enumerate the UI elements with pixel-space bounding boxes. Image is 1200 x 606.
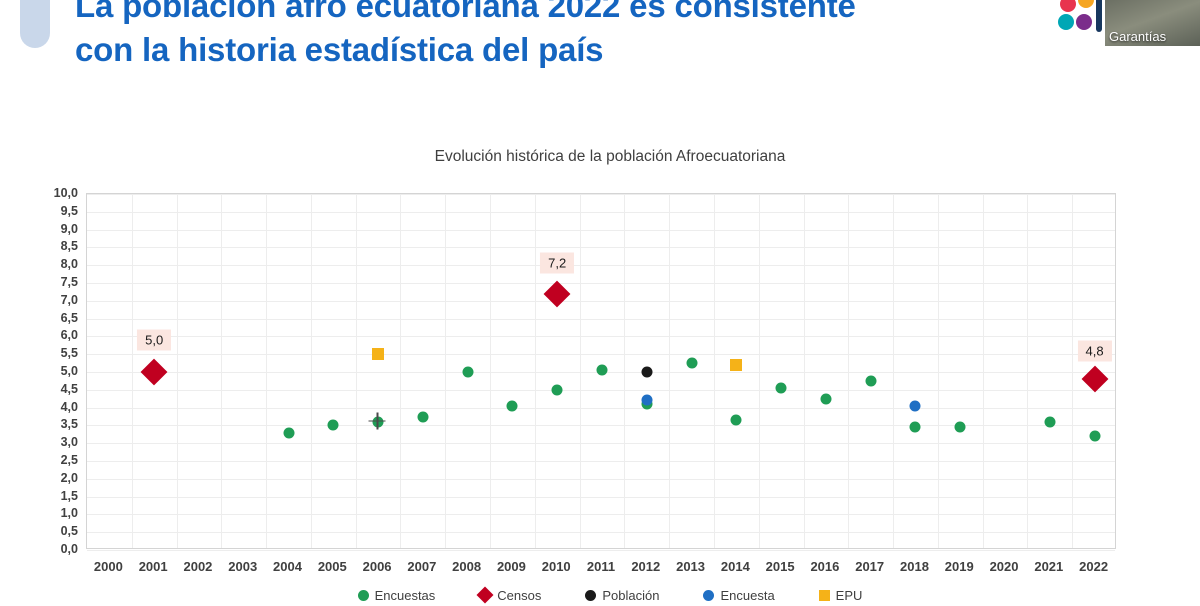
y-axis-tick-label: 3,5 — [18, 417, 78, 431]
gridline-vertical — [356, 194, 357, 548]
y-axis-tick-label: 0,0 — [18, 542, 78, 556]
gridline-vertical — [983, 194, 984, 548]
video-participant-name: Garantías — [1109, 29, 1166, 44]
data-point-encuestas — [955, 422, 966, 433]
data-point-encuestas — [731, 415, 742, 426]
legend-item[interactable]: Encuestas — [358, 588, 436, 603]
gridline-vertical — [266, 194, 267, 548]
data-point-encuestas — [865, 375, 876, 386]
y-axis-tick-label: 9,0 — [18, 222, 78, 236]
gridline-vertical — [400, 194, 401, 548]
y-axis-tick-label: 1,5 — [18, 489, 78, 503]
data-point-encuestas — [283, 427, 294, 438]
organization-logo — [1058, 0, 1110, 40]
x-axis-tick-label: 2022 — [1064, 559, 1124, 574]
gridline-vertical — [490, 194, 491, 548]
gridline-horizontal — [87, 230, 1115, 231]
y-axis-tick-label: 7,0 — [18, 293, 78, 307]
legend-item-label: Encuestas — [375, 588, 436, 603]
legend-marker-icon — [585, 590, 596, 601]
gridline-horizontal — [87, 336, 1115, 337]
gridline-horizontal — [87, 265, 1115, 266]
gridline-vertical — [759, 194, 760, 548]
gridline-vertical — [177, 194, 178, 548]
chart-title: Evolución histórica de la población Afro… — [0, 148, 1200, 166]
data-point-encuestas — [507, 400, 518, 411]
data-point-encuestas — [417, 411, 428, 422]
data-label: 4,8 — [1078, 340, 1112, 361]
legend-item[interactable]: Censos — [479, 588, 541, 603]
y-axis-tick-label: 5,5 — [18, 346, 78, 360]
gridline-vertical — [624, 194, 625, 548]
plot-area: 5,07,24,8 — [86, 193, 1116, 549]
gridline-horizontal — [87, 319, 1115, 320]
gridline-horizontal — [87, 479, 1115, 480]
logo-bar — [1096, 0, 1102, 32]
logo-dot-orange — [1078, 0, 1094, 8]
legend-marker-icon — [819, 590, 830, 601]
legend-item-label: Censos — [497, 588, 541, 603]
data-point-epu — [372, 348, 384, 360]
gridline-vertical — [1027, 194, 1028, 548]
data-point-censos — [1081, 366, 1108, 393]
data-point-población — [641, 367, 652, 378]
gridline-vertical — [804, 194, 805, 548]
gridline-horizontal — [87, 408, 1115, 409]
data-point-encuestas — [820, 393, 831, 404]
legend-item-label: Población — [602, 588, 659, 603]
gridline-horizontal — [87, 390, 1115, 391]
gridline-horizontal — [87, 283, 1115, 284]
gridline-horizontal — [87, 194, 1115, 195]
gridline-vertical — [580, 194, 581, 548]
legend-marker-icon — [477, 587, 494, 604]
logo-dot-teal — [1058, 14, 1074, 30]
data-point-encuestas — [686, 358, 697, 369]
mouse-cursor — [369, 412, 386, 429]
title-accent-bar — [20, 0, 50, 48]
data-point-censos — [141, 359, 168, 386]
gridline-vertical — [445, 194, 446, 548]
y-axis-tick-label: 8,5 — [18, 239, 78, 253]
y-axis-tick-label: 6,0 — [18, 328, 78, 342]
gridline-vertical — [535, 194, 536, 548]
gridline-vertical — [1072, 194, 1073, 548]
data-label: 7,2 — [540, 253, 574, 274]
gridline-horizontal — [87, 497, 1115, 498]
y-axis-tick-label: 4,5 — [18, 382, 78, 396]
gridline-horizontal — [87, 247, 1115, 248]
gridline-horizontal — [87, 212, 1115, 213]
gridline-vertical — [221, 194, 222, 548]
gridline-vertical — [893, 194, 894, 548]
chart-legend: EncuestasCensosPoblaciónEncuestaEPU — [0, 584, 1200, 606]
gridline-horizontal — [87, 443, 1115, 444]
data-point-encuestas — [552, 384, 563, 395]
legend-item-label: Encuesta — [720, 588, 774, 603]
data-point-encuestas — [1044, 416, 1055, 427]
video-participant-tile[interactable]: Garantías — [1105, 0, 1200, 46]
legend-marker-icon — [358, 590, 369, 601]
gridline-horizontal — [87, 301, 1115, 302]
data-point-epu — [730, 359, 742, 371]
gridline-horizontal — [87, 514, 1115, 515]
data-point-encuesta — [641, 395, 652, 406]
y-axis-tick-label: 0,5 — [18, 524, 78, 538]
data-point-encuestas — [910, 422, 921, 433]
y-axis-tick-label: 3,0 — [18, 435, 78, 449]
data-point-encuestas — [597, 365, 608, 376]
y-axis-tick-label: 7,5 — [18, 275, 78, 289]
y-axis-tick-label: 5,0 — [18, 364, 78, 378]
gridline-vertical — [311, 194, 312, 548]
y-axis-tick-label: 8,0 — [18, 257, 78, 271]
data-point-encuestas — [462, 367, 473, 378]
y-axis-tick-label: 10,0 — [18, 186, 78, 200]
y-axis-tick-label: 2,0 — [18, 471, 78, 485]
gridline-vertical — [132, 194, 133, 548]
y-axis-tick-label: 6,5 — [18, 311, 78, 325]
chart-panel: Evolución histórica de la población Afro… — [0, 84, 1200, 600]
y-axis-tick-label: 1,0 — [18, 506, 78, 520]
gridline-vertical — [669, 194, 670, 548]
gridline-horizontal — [87, 461, 1115, 462]
legend-item[interactable]: Encuesta — [703, 588, 774, 603]
y-axis-tick-label: 2,5 — [18, 453, 78, 467]
page-title: La población afro ecuatoriana 2022 es co… — [75, 0, 1035, 72]
legend-item[interactable]: Población — [585, 588, 659, 603]
gridline-vertical — [938, 194, 939, 548]
y-axis-tick-label: 9,5 — [18, 204, 78, 218]
logo-dot-red — [1060, 0, 1076, 12]
y-axis-tick-label: 4,0 — [18, 400, 78, 414]
gridline-horizontal — [87, 550, 1115, 551]
gridline-horizontal — [87, 532, 1115, 533]
gridline-vertical — [714, 194, 715, 548]
data-point-encuestas — [776, 383, 787, 394]
data-point-censos — [544, 280, 571, 307]
logo-dot-purple — [1076, 14, 1092, 30]
legend-item-label: EPU — [836, 588, 863, 603]
data-point-encuestas — [1089, 431, 1100, 442]
data-point-encuestas — [328, 420, 339, 431]
data-label: 5,0 — [137, 329, 171, 350]
data-point-encuesta — [910, 400, 921, 411]
slide-header: La población afro ecuatoriana 2022 es co… — [0, 0, 1200, 84]
gridline-vertical — [848, 194, 849, 548]
legend-marker-icon — [703, 590, 714, 601]
legend-item[interactable]: EPU — [819, 588, 863, 603]
gridline-horizontal — [87, 354, 1115, 355]
